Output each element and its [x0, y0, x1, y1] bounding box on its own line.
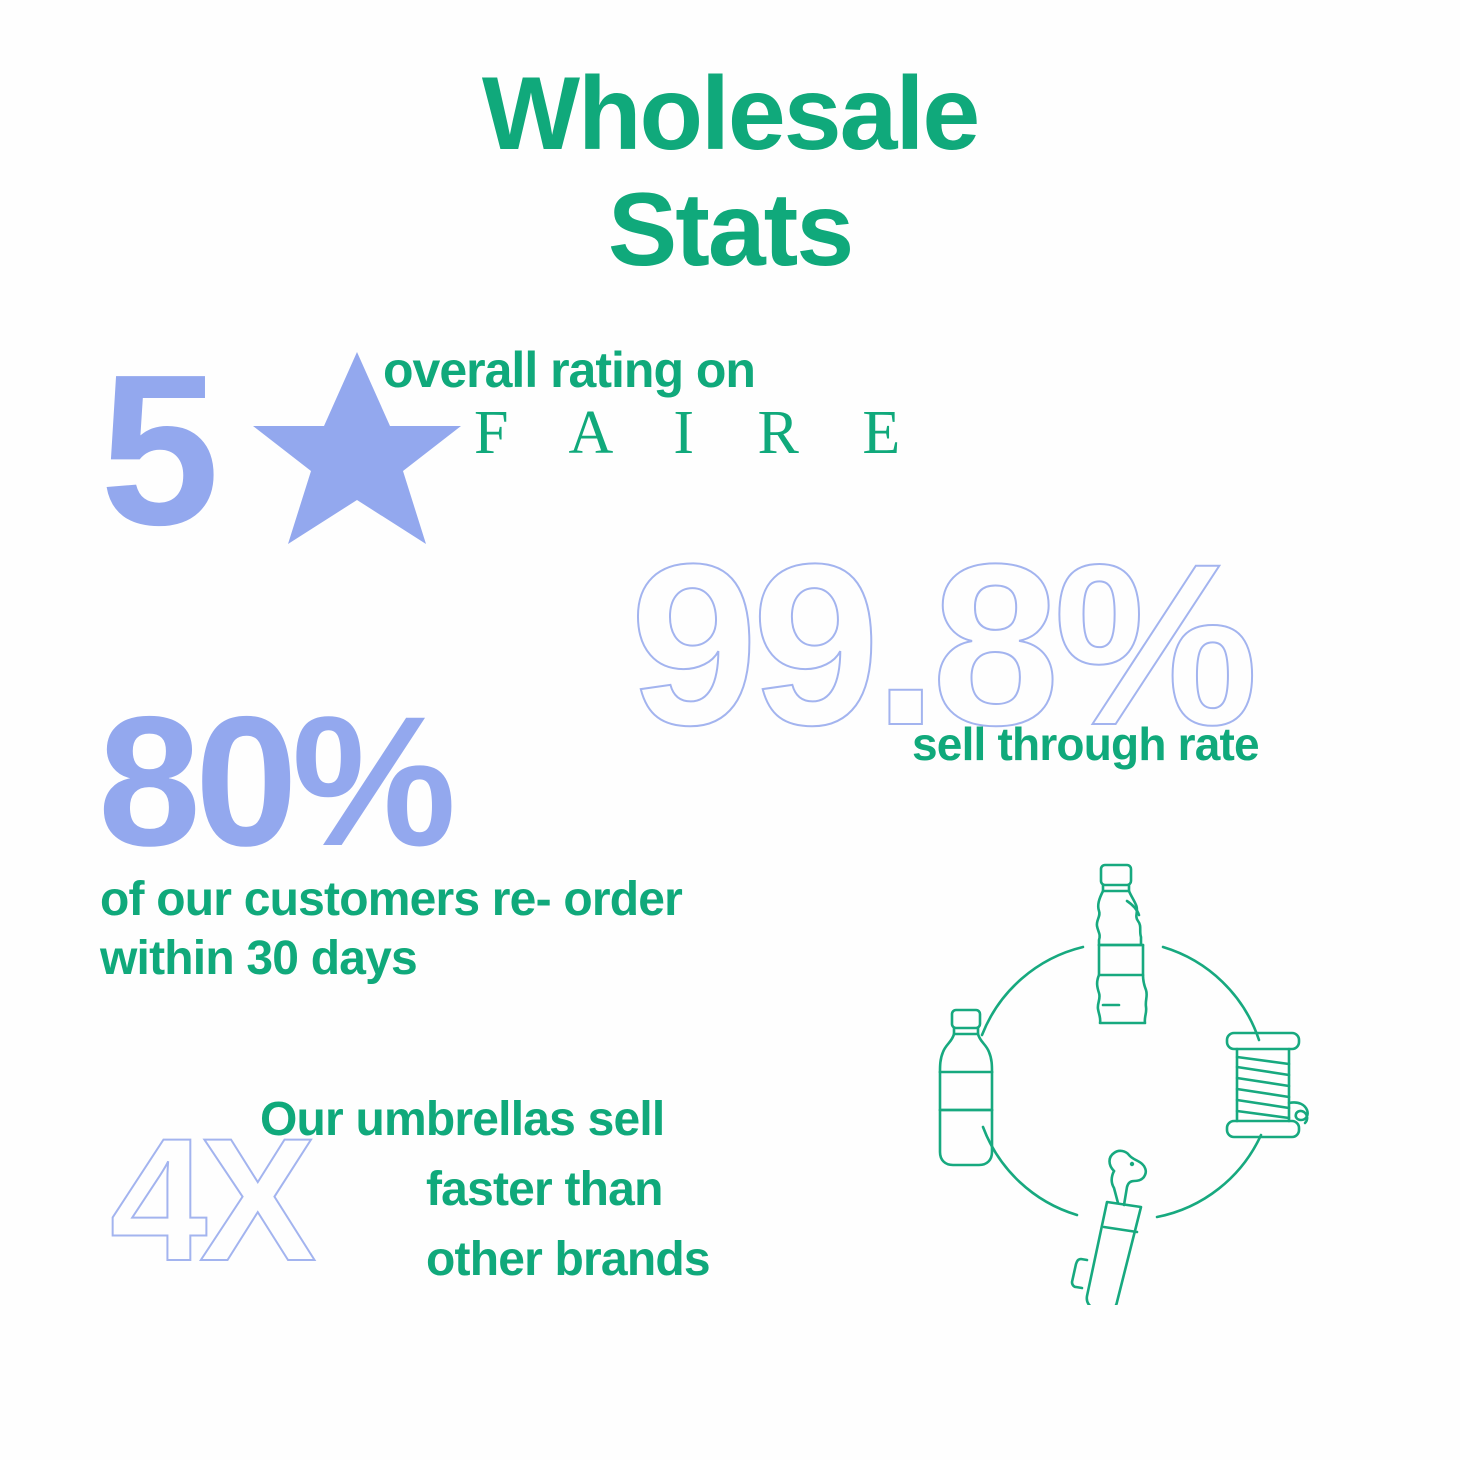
reorder-caption: of our customers re- order within 30 day… — [100, 870, 720, 988]
stat-block-reorder: 80% of our customers re- order within 30… — [0, 690, 900, 990]
recycling-cycle-diagram — [905, 855, 1335, 1305]
cycle-arcs — [982, 947, 1261, 1217]
page-title: Wholesale Stats — [0, 62, 1460, 282]
plastic-bottle-icon — [940, 1010, 992, 1165]
infographic-canvas: Wholesale Stats 5 overall rating on F A … — [0, 0, 1460, 1460]
title-line-1: Wholesale — [0, 62, 1460, 166]
umbrella-speed-caption: Our umbrellas sell faster than other bra… — [260, 1085, 820, 1295]
reorder-number: 80% — [98, 690, 450, 875]
sell-through-caption: sell through rate — [912, 718, 1259, 770]
faire-brand-wordmark: F A I R E — [474, 402, 924, 464]
thread-spool-icon — [1227, 1033, 1308, 1137]
reorder-caption-line-1: of our customers re- — [100, 873, 551, 926]
umbrella-caption-line-2: faster than — [260, 1155, 820, 1225]
rating-caption: overall rating on — [383, 342, 755, 398]
crushed-bottle-icon — [1097, 865, 1147, 1023]
umbrella-caption-line-1: Our umbrellas sell — [260, 1085, 820, 1155]
folded-umbrella-duck-handle-icon — [1072, 1151, 1146, 1305]
umbrella-caption-line-3: other brands — [260, 1225, 820, 1295]
stat-block-umbrella-speed: 4X Our umbrellas sell faster than other … — [0, 1085, 900, 1305]
title-line-2: Stats — [0, 178, 1460, 282]
